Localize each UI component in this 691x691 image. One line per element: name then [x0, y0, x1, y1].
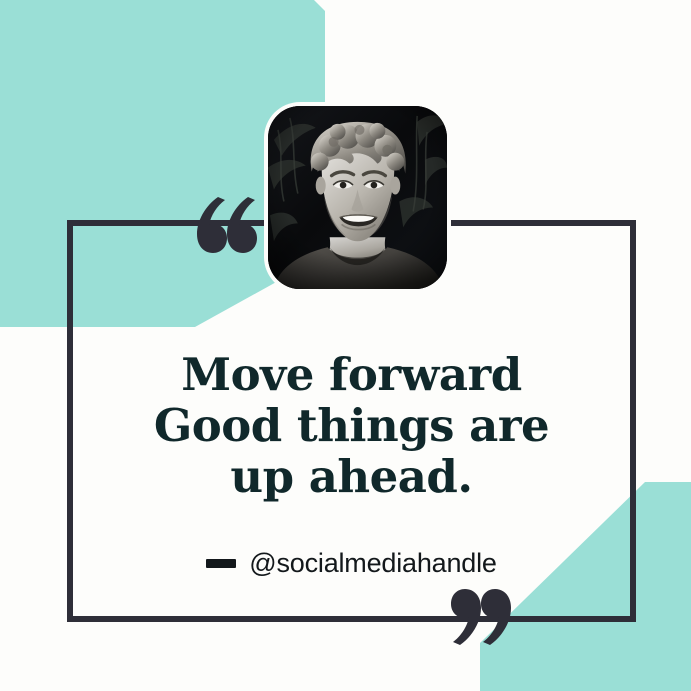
handle-row: @socialmediahandle — [67, 548, 636, 579]
quote-headline: Move forward Good things are up ahead. — [67, 349, 636, 502]
headline-line-3: up ahead. — [67, 451, 636, 502]
avatar-photo — [268, 106, 447, 289]
quote-close-icon — [450, 588, 512, 646]
headline-line-1: Move forward — [67, 349, 636, 400]
headline-line-2: Good things are — [67, 400, 636, 451]
dash-icon — [206, 559, 236, 568]
avatar[interactable] — [264, 102, 451, 293]
portrait-illustration — [268, 106, 447, 289]
quote-open-icon — [196, 196, 258, 254]
quote-card: Move forward Good things are up ahead. @… — [0, 0, 691, 691]
social-handle[interactable]: @socialmediahandle — [249, 548, 496, 579]
